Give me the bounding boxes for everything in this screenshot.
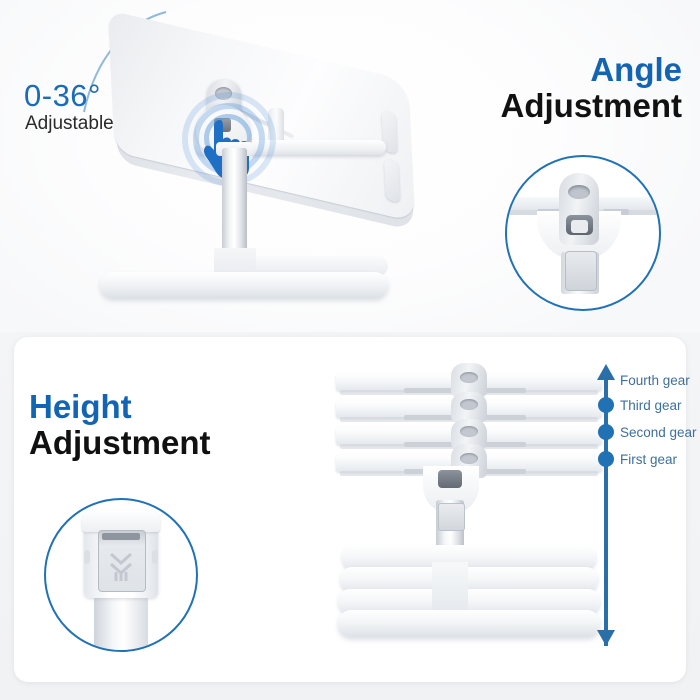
angle-adjustment-panel: 0-36° Adjustable Angle Adjustment [0, 0, 700, 332]
gear-marker-first [598, 451, 614, 467]
detail-lower-tube [94, 594, 148, 650]
gear-hinge-hole-third [460, 399, 478, 410]
detail-clamp-nub-right [152, 550, 158, 564]
detail-clamp-slot [102, 533, 140, 540]
detail-clamp [565, 251, 597, 291]
arrow-up-icon [597, 364, 615, 380]
telescoping-column [222, 148, 247, 256]
gear-hinge-hole-fourth [460, 372, 478, 383]
detail-hinge-latch-inner [571, 220, 588, 233]
height-title-accent: Height [29, 389, 211, 425]
height-title-main: Adjustment [29, 425, 211, 461]
gear-label-fourth: Fourth gear [620, 373, 690, 388]
base-leg-first [338, 610, 600, 637]
gear-label-second: Second gear [620, 425, 697, 440]
detail-hinge-hole [568, 185, 590, 199]
angle-range-caption: Adjustable [25, 113, 114, 135]
gear-label-first: First gear [620, 452, 677, 467]
height-clamp-detail-callout [44, 498, 198, 652]
main-hinge-latch [438, 470, 462, 488]
product-infographic: 0-36° Adjustable Angle Adjustment [0, 0, 700, 700]
angle-title-main: Adjustment [501, 88, 683, 124]
base-foot-bar [100, 272, 388, 298]
angle-title-block: Angle Adjustment [501, 52, 683, 123]
angle-range-value: 0-36° [24, 78, 101, 114]
arrow-down-icon [597, 630, 615, 646]
gear-marker-third [598, 397, 614, 413]
hinge-lock-detail-callout [505, 155, 661, 311]
angle-title-accent: Angle [501, 52, 683, 88]
height-title-block: Height Adjustment [29, 389, 211, 460]
detail-grip-arrows-icon [108, 552, 134, 582]
height-clamp [438, 503, 465, 531]
gear-label-third: Third gear [620, 398, 682, 413]
gear-hinge-hole-second [460, 426, 478, 437]
base-center-hub [432, 562, 468, 614]
tray-ledge-lower [384, 159, 400, 203]
detail-clamp-cap [82, 510, 160, 532]
detail-clamp-nub-left [84, 550, 90, 564]
gear-hinge-hole-first [460, 453, 478, 464]
gear-marker-second [598, 424, 614, 440]
